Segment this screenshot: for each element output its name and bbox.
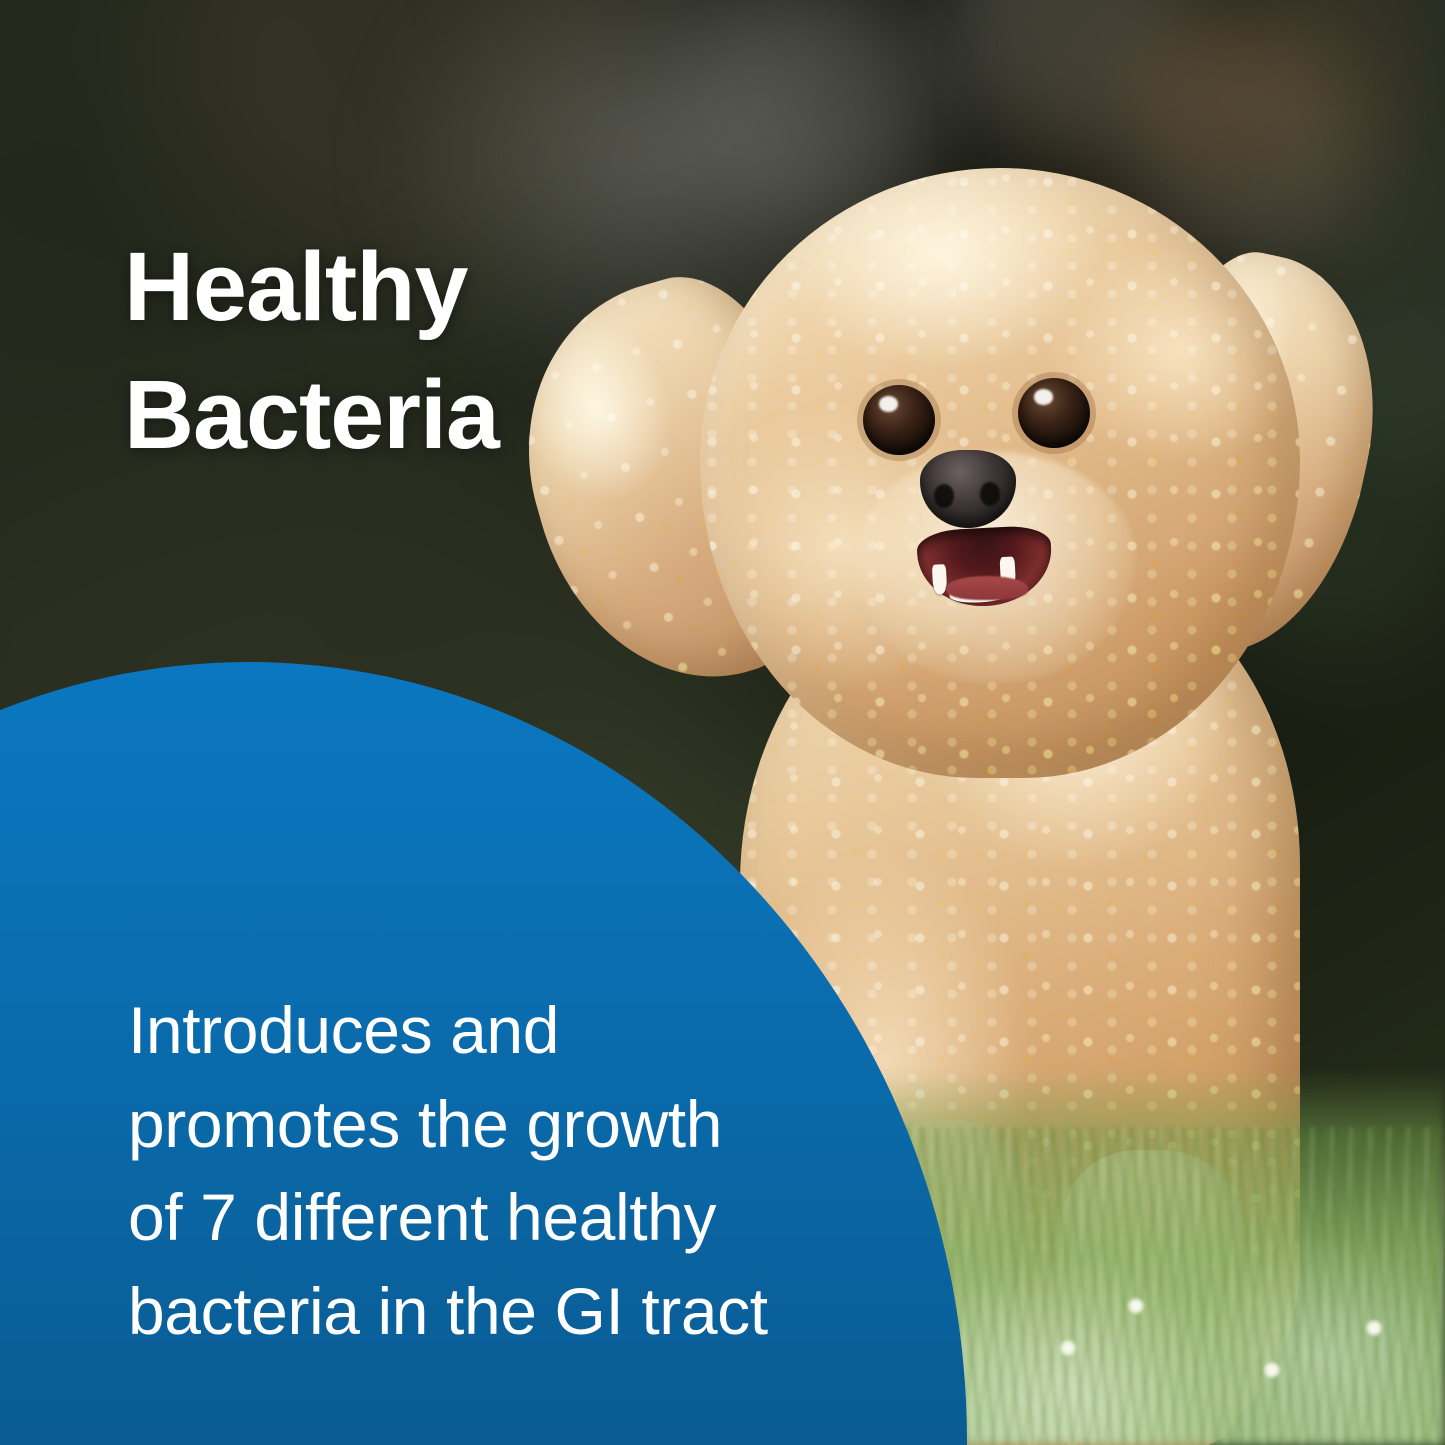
dog-tongue [946, 576, 1028, 600]
grass-flower [1264, 1362, 1280, 1378]
dog-left-eye [863, 385, 935, 455]
dog-right-nostril [980, 482, 1000, 506]
page-title: Healthy Bacteria [124, 223, 684, 479]
benefit-description: Introduces and promotes the growth of 7 … [128, 984, 888, 1359]
promo-card: Healthy Bacteria Introduces and promotes… [0, 0, 1445, 1445]
dog-left-nostril [934, 484, 954, 508]
dog-right-eye [1018, 378, 1090, 448]
grass-flower [1060, 1340, 1076, 1356]
grass-flower [1128, 1298, 1144, 1314]
grass-flower [1366, 1320, 1382, 1336]
